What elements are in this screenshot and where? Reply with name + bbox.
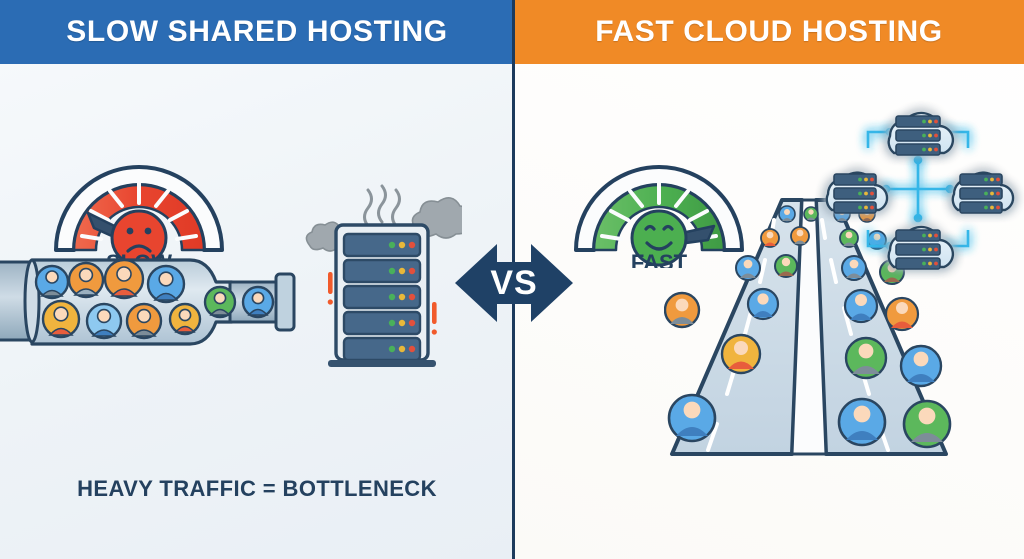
left-panel-slow-shared-hosting: SLOW bbox=[0, 0, 514, 559]
cloud-server-network bbox=[812, 98, 1024, 280]
pipe-mouth bbox=[25, 260, 39, 342]
rack-base bbox=[328, 360, 436, 367]
vs-badge: VS bbox=[455, 232, 573, 334]
bottleneck-pipe bbox=[0, 248, 314, 356]
avatar bbox=[791, 227, 809, 245]
overloaded-server-rack bbox=[300, 180, 462, 382]
avatar bbox=[839, 399, 885, 445]
avatar bbox=[669, 395, 715, 441]
right-header-band: FAST CLOUD HOSTING bbox=[514, 0, 1024, 64]
double-arrow-icon bbox=[455, 244, 573, 322]
avatar bbox=[170, 304, 200, 334]
avatar bbox=[886, 298, 918, 330]
avatar bbox=[243, 287, 273, 317]
avatar bbox=[69, 263, 103, 297]
avatar bbox=[901, 346, 941, 386]
cloud-bottom-servers bbox=[896, 230, 940, 269]
avatar bbox=[904, 401, 950, 447]
avatar bbox=[43, 301, 79, 337]
infographic-canvas: SLOW bbox=[0, 0, 1024, 559]
avatar bbox=[105, 260, 143, 298]
right-panel-fast-cloud-hosting: FAST bbox=[514, 0, 1024, 559]
avatar bbox=[748, 289, 778, 319]
left-header-title: SLOW SHARED HOSTING bbox=[66, 15, 447, 49]
cloud-top-servers bbox=[896, 116, 940, 155]
left-caption: HEAVY TRAFFIC = BOTTLENECK bbox=[0, 476, 514, 502]
pipe-outlet-flange bbox=[276, 274, 294, 330]
avatar bbox=[36, 266, 68, 298]
heat-wave-icon bbox=[365, 186, 400, 226]
avatar bbox=[205, 287, 235, 317]
cloud-left-servers bbox=[834, 174, 876, 213]
avatar bbox=[127, 304, 161, 338]
avatar bbox=[148, 266, 184, 302]
avatar bbox=[736, 256, 760, 280]
avatar bbox=[722, 335, 760, 373]
rack-units bbox=[344, 234, 420, 360]
avatar bbox=[87, 304, 121, 338]
avatar bbox=[775, 255, 797, 277]
slow-gauge: SLOW bbox=[44, 118, 234, 268]
right-header-title: FAST CLOUD HOSTING bbox=[595, 15, 942, 49]
avatar bbox=[845, 290, 877, 322]
avatar bbox=[846, 338, 886, 378]
left-header-band: SLOW SHARED HOSTING bbox=[0, 0, 514, 64]
avatar bbox=[779, 206, 795, 222]
avatar bbox=[665, 293, 699, 327]
avatar bbox=[761, 229, 779, 247]
cloud-right-servers bbox=[960, 174, 1002, 213]
